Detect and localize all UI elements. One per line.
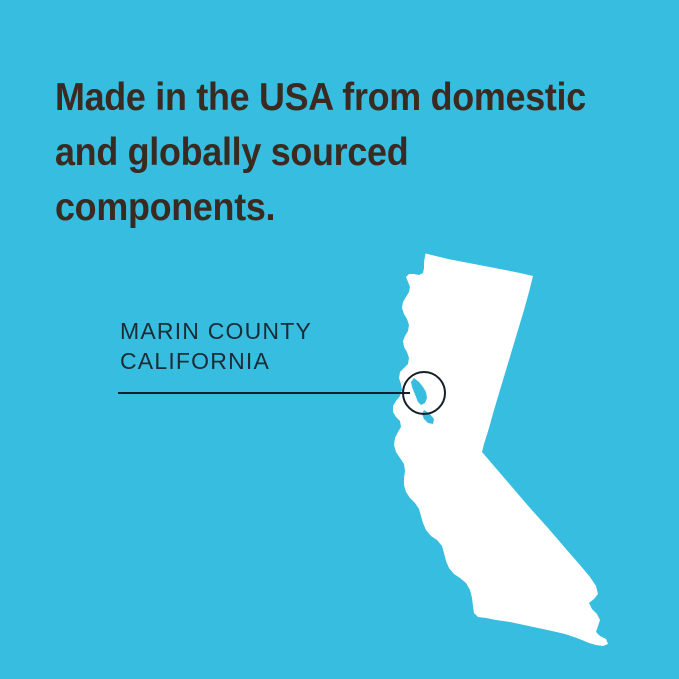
made-in-usa-poster: Made in the USA from domestic and global… bbox=[0, 0, 679, 679]
california-state-shape bbox=[393, 254, 608, 647]
callout-leader-line bbox=[118, 392, 410, 394]
page-title: Made in the USA from domestic and global… bbox=[55, 70, 616, 235]
marin-county-label: MARIN COUNTY CALIFORNIA bbox=[120, 316, 312, 376]
